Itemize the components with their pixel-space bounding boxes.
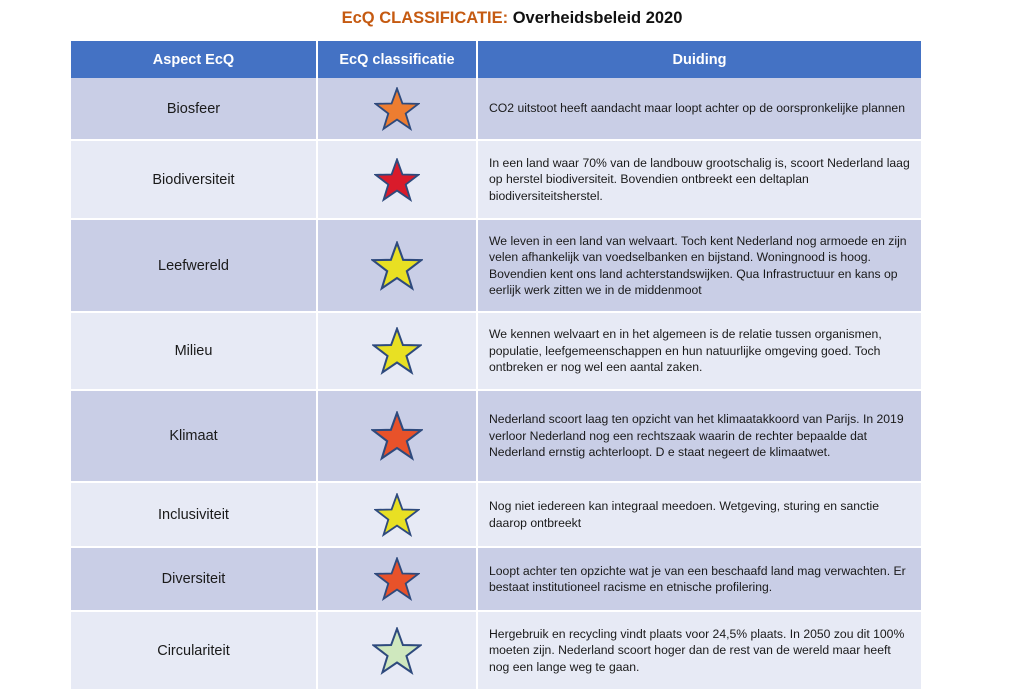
page-title-rest: Overheidsbeleid 2020: [508, 9, 682, 27]
table-row: Biosfeer CO2 uitstoot heeft aandacht maa…: [71, 78, 921, 141]
aspect-cell: Milieu: [71, 313, 318, 391]
duiding-cell: Nederland scoort laag ten opzicht van he…: [478, 391, 921, 483]
aspect-cell: Circulariteit: [71, 612, 318, 689]
duiding-cell: Hergebruik en recycling vindt plaats voo…: [478, 612, 921, 689]
aspect-cell: Diversiteit: [71, 548, 318, 612]
table-row: Klimaat Nederland scoort laag ten opzich…: [71, 391, 921, 483]
light-green-star-icon: [372, 627, 422, 675]
classification-cell: [318, 220, 478, 313]
star-wrapper: [318, 241, 476, 291]
aspect-cell: Biosfeer: [71, 78, 318, 141]
table-row: Milieu We kennen welvaart en in het alge…: [71, 313, 921, 391]
classification-cell: [318, 612, 478, 689]
star-wrapper: [318, 87, 476, 131]
classification-cell: [318, 313, 478, 391]
star-wrapper: [318, 557, 476, 601]
slide-canvas: EcQ CLASSIFICATIE: Overheidsbeleid 2020 …: [0, 0, 1024, 576]
duiding-cell: We kennen welvaart en in het algemeen is…: [478, 313, 921, 391]
yellow-star-icon: [374, 493, 420, 537]
aspect-cell: Inclusiviteit: [71, 483, 318, 548]
star-wrapper: [318, 411, 476, 461]
star-wrapper: [318, 327, 476, 375]
star-wrapper: [318, 158, 476, 202]
star-wrapper: [318, 493, 476, 537]
yellow-star-icon: [371, 241, 423, 291]
duiding-cell: CO2 uitstoot heeft aandacht maar loopt a…: [478, 78, 921, 141]
table-row: Inclusiviteit Nog niet iedereen kan inte…: [71, 483, 921, 548]
table-row: Circulariteit Hergebruik en recycling vi…: [71, 612, 921, 689]
classification-cell: [318, 141, 478, 220]
table-body: Biosfeer CO2 uitstoot heeft aandacht maa…: [71, 78, 921, 689]
star-wrapper: [318, 627, 476, 675]
table-row: Biodiversiteit In een land waar 70% van …: [71, 141, 921, 220]
page-title-accent: EcQ CLASSIFICATIE:: [342, 9, 509, 27]
ecq-classification-table: Aspect EcQ EcQ classificatie Duiding Bio…: [71, 41, 921, 689]
yellow-star-icon: [372, 327, 422, 375]
classification-cell: [318, 78, 478, 141]
page-title: EcQ CLASSIFICATIE: Overheidsbeleid 2020: [0, 8, 1024, 28]
duiding-cell: We leven in een land van welvaart. Toch …: [478, 220, 921, 313]
column-header-classification: EcQ classificatie: [318, 41, 478, 78]
classification-cell: [318, 391, 478, 483]
aspect-cell: Leefwereld: [71, 220, 318, 313]
duiding-cell: In een land waar 70% van de landbouw gro…: [478, 141, 921, 220]
classification-cell: [318, 548, 478, 612]
aspect-cell: Klimaat: [71, 391, 318, 483]
duiding-cell: Loopt achter ten opzichte wat je van een…: [478, 548, 921, 612]
aspect-cell: Biodiversiteit: [71, 141, 318, 220]
table-row: Leefwereld We leven in een land van welv…: [71, 220, 921, 313]
table-header-row: Aspect EcQ EcQ classificatie Duiding: [71, 41, 921, 78]
column-header-aspect: Aspect EcQ: [71, 41, 318, 78]
classification-cell: [318, 483, 478, 548]
red-star-icon: [374, 158, 420, 202]
duiding-cell: Nog niet iedereen kan integraal meedoen.…: [478, 483, 921, 548]
orange-red-star-icon: [374, 557, 420, 601]
orange-star-icon: [374, 87, 420, 131]
table-row: Diversiteit Loopt achter ten opzichte wa…: [71, 548, 921, 612]
table-header: Aspect EcQ EcQ classificatie Duiding: [71, 41, 921, 78]
ecq-table-container: Aspect EcQ EcQ classificatie Duiding Bio…: [71, 41, 921, 568]
orange-red-star-icon: [371, 411, 423, 461]
column-header-duiding: Duiding: [478, 41, 921, 78]
